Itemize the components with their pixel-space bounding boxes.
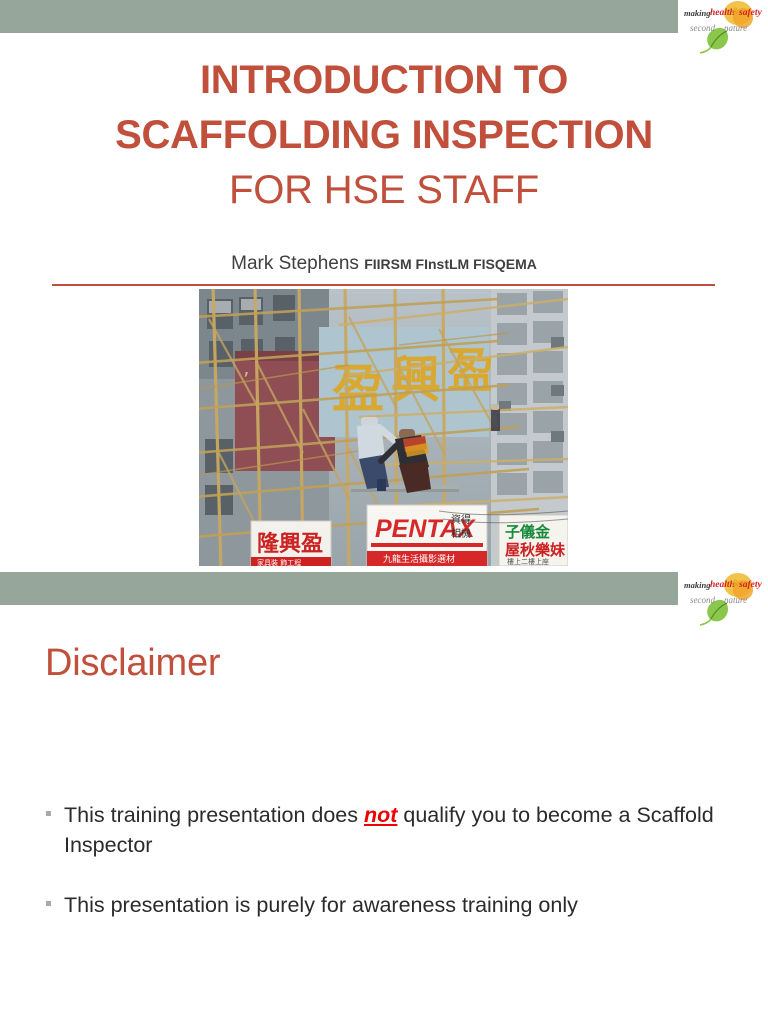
slide-header-band — [0, 0, 768, 33]
slide-title: making health & safety second nature INT… — [0, 0, 768, 572]
bullet-marker-icon — [46, 811, 51, 816]
logo-line-second-nature: second — [690, 23, 715, 33]
brand-logo-slide2: making health & safety second nature — [678, 572, 768, 628]
slide-disclaimer: making health & safety second nature Dis… — [0, 572, 768, 1024]
svg-text:second: second — [690, 595, 715, 605]
list-item: This presentation is purely for awarenes… — [42, 890, 732, 920]
bullet-marker-icon — [46, 901, 51, 906]
logo-word-making: making — [684, 8, 711, 18]
disclaimer-bullet-list: This training presentation does not qual… — [42, 800, 732, 950]
svg-text:nature: nature — [724, 23, 747, 33]
slide2-header-band — [0, 572, 768, 605]
svg-text:nature: nature — [724, 595, 747, 605]
svg-text:safety: safety — [738, 580, 762, 590]
svg-text:興: 興 — [279, 532, 301, 557]
svg-text:相機: 相機 — [451, 527, 471, 540]
svg-text:盈: 盈 — [300, 532, 323, 557]
list-item: This training presentation does not qual… — [42, 800, 732, 860]
author-line: Mark Stephens FIIRSM FInstLM FISQEMA — [0, 253, 768, 275]
svg-text:樓上二樓上座: 樓上二樓上座 — [507, 557, 549, 566]
title-line-2: SCAFFOLDING INSPECTION — [0, 108, 768, 163]
svg-text:making: making — [684, 580, 711, 590]
bullet-emphasis: not — [364, 803, 397, 827]
svg-text:家具裝 飾工程: 家具裝 飾工程 — [257, 558, 301, 566]
svg-text:屋秋樂妹: 屋秋樂妹 — [505, 541, 566, 559]
logo-word-safety: safety — [738, 8, 762, 18]
svg-text:九龍生活攝影選材: 九龍生活攝影選材 — [383, 553, 455, 565]
brand-logo: making health & safety second nature — [678, 0, 768, 56]
title-divider — [52, 284, 715, 286]
title-line-3: FOR HSE STAFF — [0, 163, 768, 218]
svg-text:子儀金: 子儀金 — [505, 523, 551, 541]
svg-text:隆: 隆 — [257, 532, 280, 557]
bullet-text-pre: This presentation is purely for awarenes… — [64, 893, 578, 917]
photo-sign-left: 隆 興 盈 家具裝 飾工程 — [251, 521, 331, 566]
presentation-page: making health & safety second nature INT… — [0, 0, 768, 1024]
svg-text:盈: 盈 — [447, 343, 495, 399]
slide-title-block: INTRODUCTION TO SCAFFOLDING INSPECTION F… — [0, 53, 768, 218]
author-name: Mark Stephens — [231, 253, 359, 274]
disclaimer-heading: Disclaimer — [45, 642, 220, 685]
bullet-text-pre: This training presentation does — [64, 803, 364, 827]
logo-word-amp: & — [732, 6, 739, 16]
scaffolding-photo: ’ 盈 興 盈 — [199, 289, 568, 566]
title-line-1: INTRODUCTION TO — [0, 53, 768, 108]
svg-text:&: & — [732, 578, 739, 588]
author-qualifications: FIIRSM FInstLM FISQEMA — [364, 256, 537, 272]
